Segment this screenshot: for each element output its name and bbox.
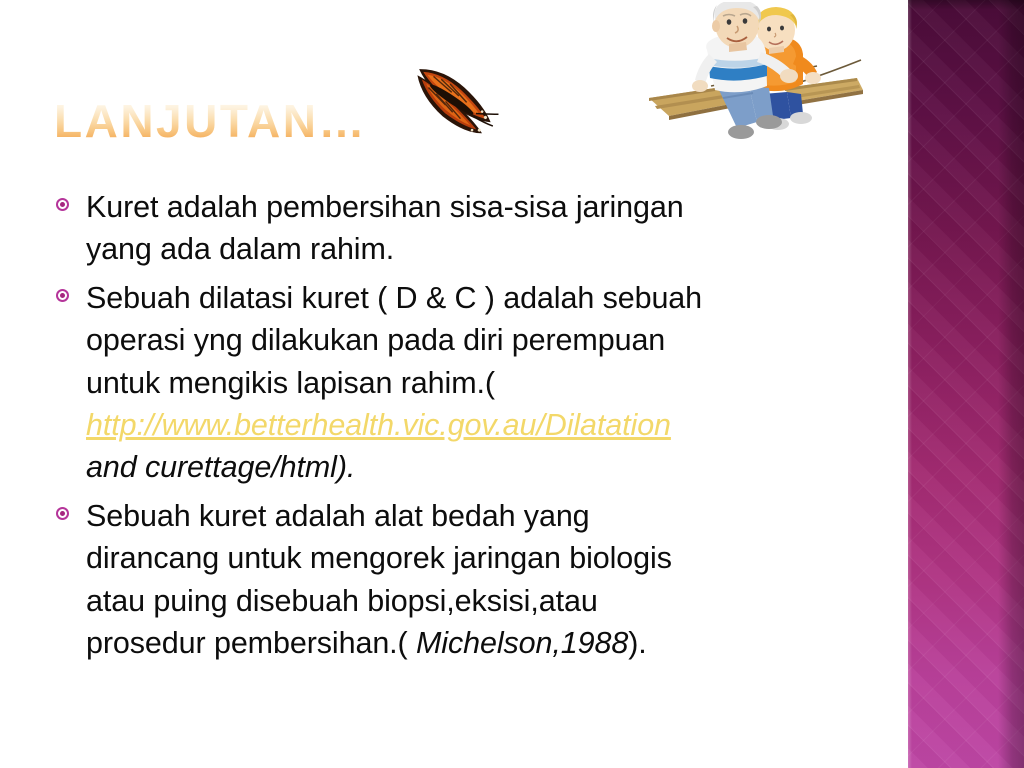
bullet-3-text: Sebuah kuret adalah alat bedah yang dira… (86, 495, 876, 665)
bullet-3-line-1: Sebuah kuret adalah alat bedah yang (86, 495, 876, 537)
list-item: Kuret adalah pembersihan sisa-sisa jarin… (56, 186, 876, 271)
slide-canvas: Kuret adalah pembersihan sisa-sisa jarin… (0, 0, 1024, 768)
slide-body-content: Kuret adalah pembersihan sisa-sisa jarin… (56, 186, 876, 670)
bullet-2-trailing-italic: and curettage/html). (86, 446, 876, 488)
bullet-marker (56, 495, 86, 520)
monarch-butterfly-clipart (396, 52, 504, 152)
bullet-1-line-2: yang ada dalam rahim. (86, 228, 876, 270)
bullet-marker (56, 277, 86, 302)
list-item: Sebuah dilatasi kuret ( D & C ) adalah s… (56, 277, 876, 489)
band-left-highlight (908, 0, 912, 768)
betterhealth-hyperlink[interactable]: http://www.betterhealth.vic.gov.au/Dilat… (86, 404, 876, 446)
bullet-1-text: Kuret adalah pembersihan sisa-sisa jarin… (86, 186, 876, 271)
bullet-2-line-1: Sebuah dilatasi kuret ( D & C ) adalah s… (86, 277, 876, 319)
bullet-2-line-2: operasi yng dilakukan pada diri perempua… (86, 319, 876, 361)
grandfather-and-boy-clipart (645, 2, 873, 142)
bullet-3-line-3: atau puing disebuah biopsi,eksisi,atau (86, 580, 876, 622)
citation-suffix: ). (628, 626, 646, 660)
bullet-3-line-2: dirancang untuk mengorek jaringan biolog… (86, 537, 876, 579)
page-title: Lanjutan… (54, 98, 367, 144)
bullet-2-text: Sebuah dilatasi kuret ( D & C ) adalah s… (86, 277, 876, 489)
bullet-dot-icon (56, 507, 69, 520)
bullet-2-line-3: untuk mengikis lapisan rahim.( (86, 362, 876, 404)
bullet-1-line-1: Kuret adalah pembersihan sisa-sisa jarin… (86, 186, 876, 228)
bullet-dot-icon (56, 289, 69, 302)
bullet-3-line-4-prefix: prosedur pembersihan.( (86, 626, 416, 660)
bullet-dot-icon (56, 198, 69, 211)
right-purple-accent-band (908, 0, 1024, 768)
bullet-3-line-4: prosedur pembersihan.( Michelson,1988). (86, 622, 876, 664)
band-diamond-texture (908, 0, 1024, 768)
band-top-shadow (908, 0, 1024, 10)
citation-michelson: Michelson,1988 (416, 626, 628, 660)
list-item: Sebuah kuret adalah alat bedah yang dira… (56, 495, 876, 665)
bullet-marker (56, 186, 86, 211)
band-right-shadow (998, 0, 1024, 768)
